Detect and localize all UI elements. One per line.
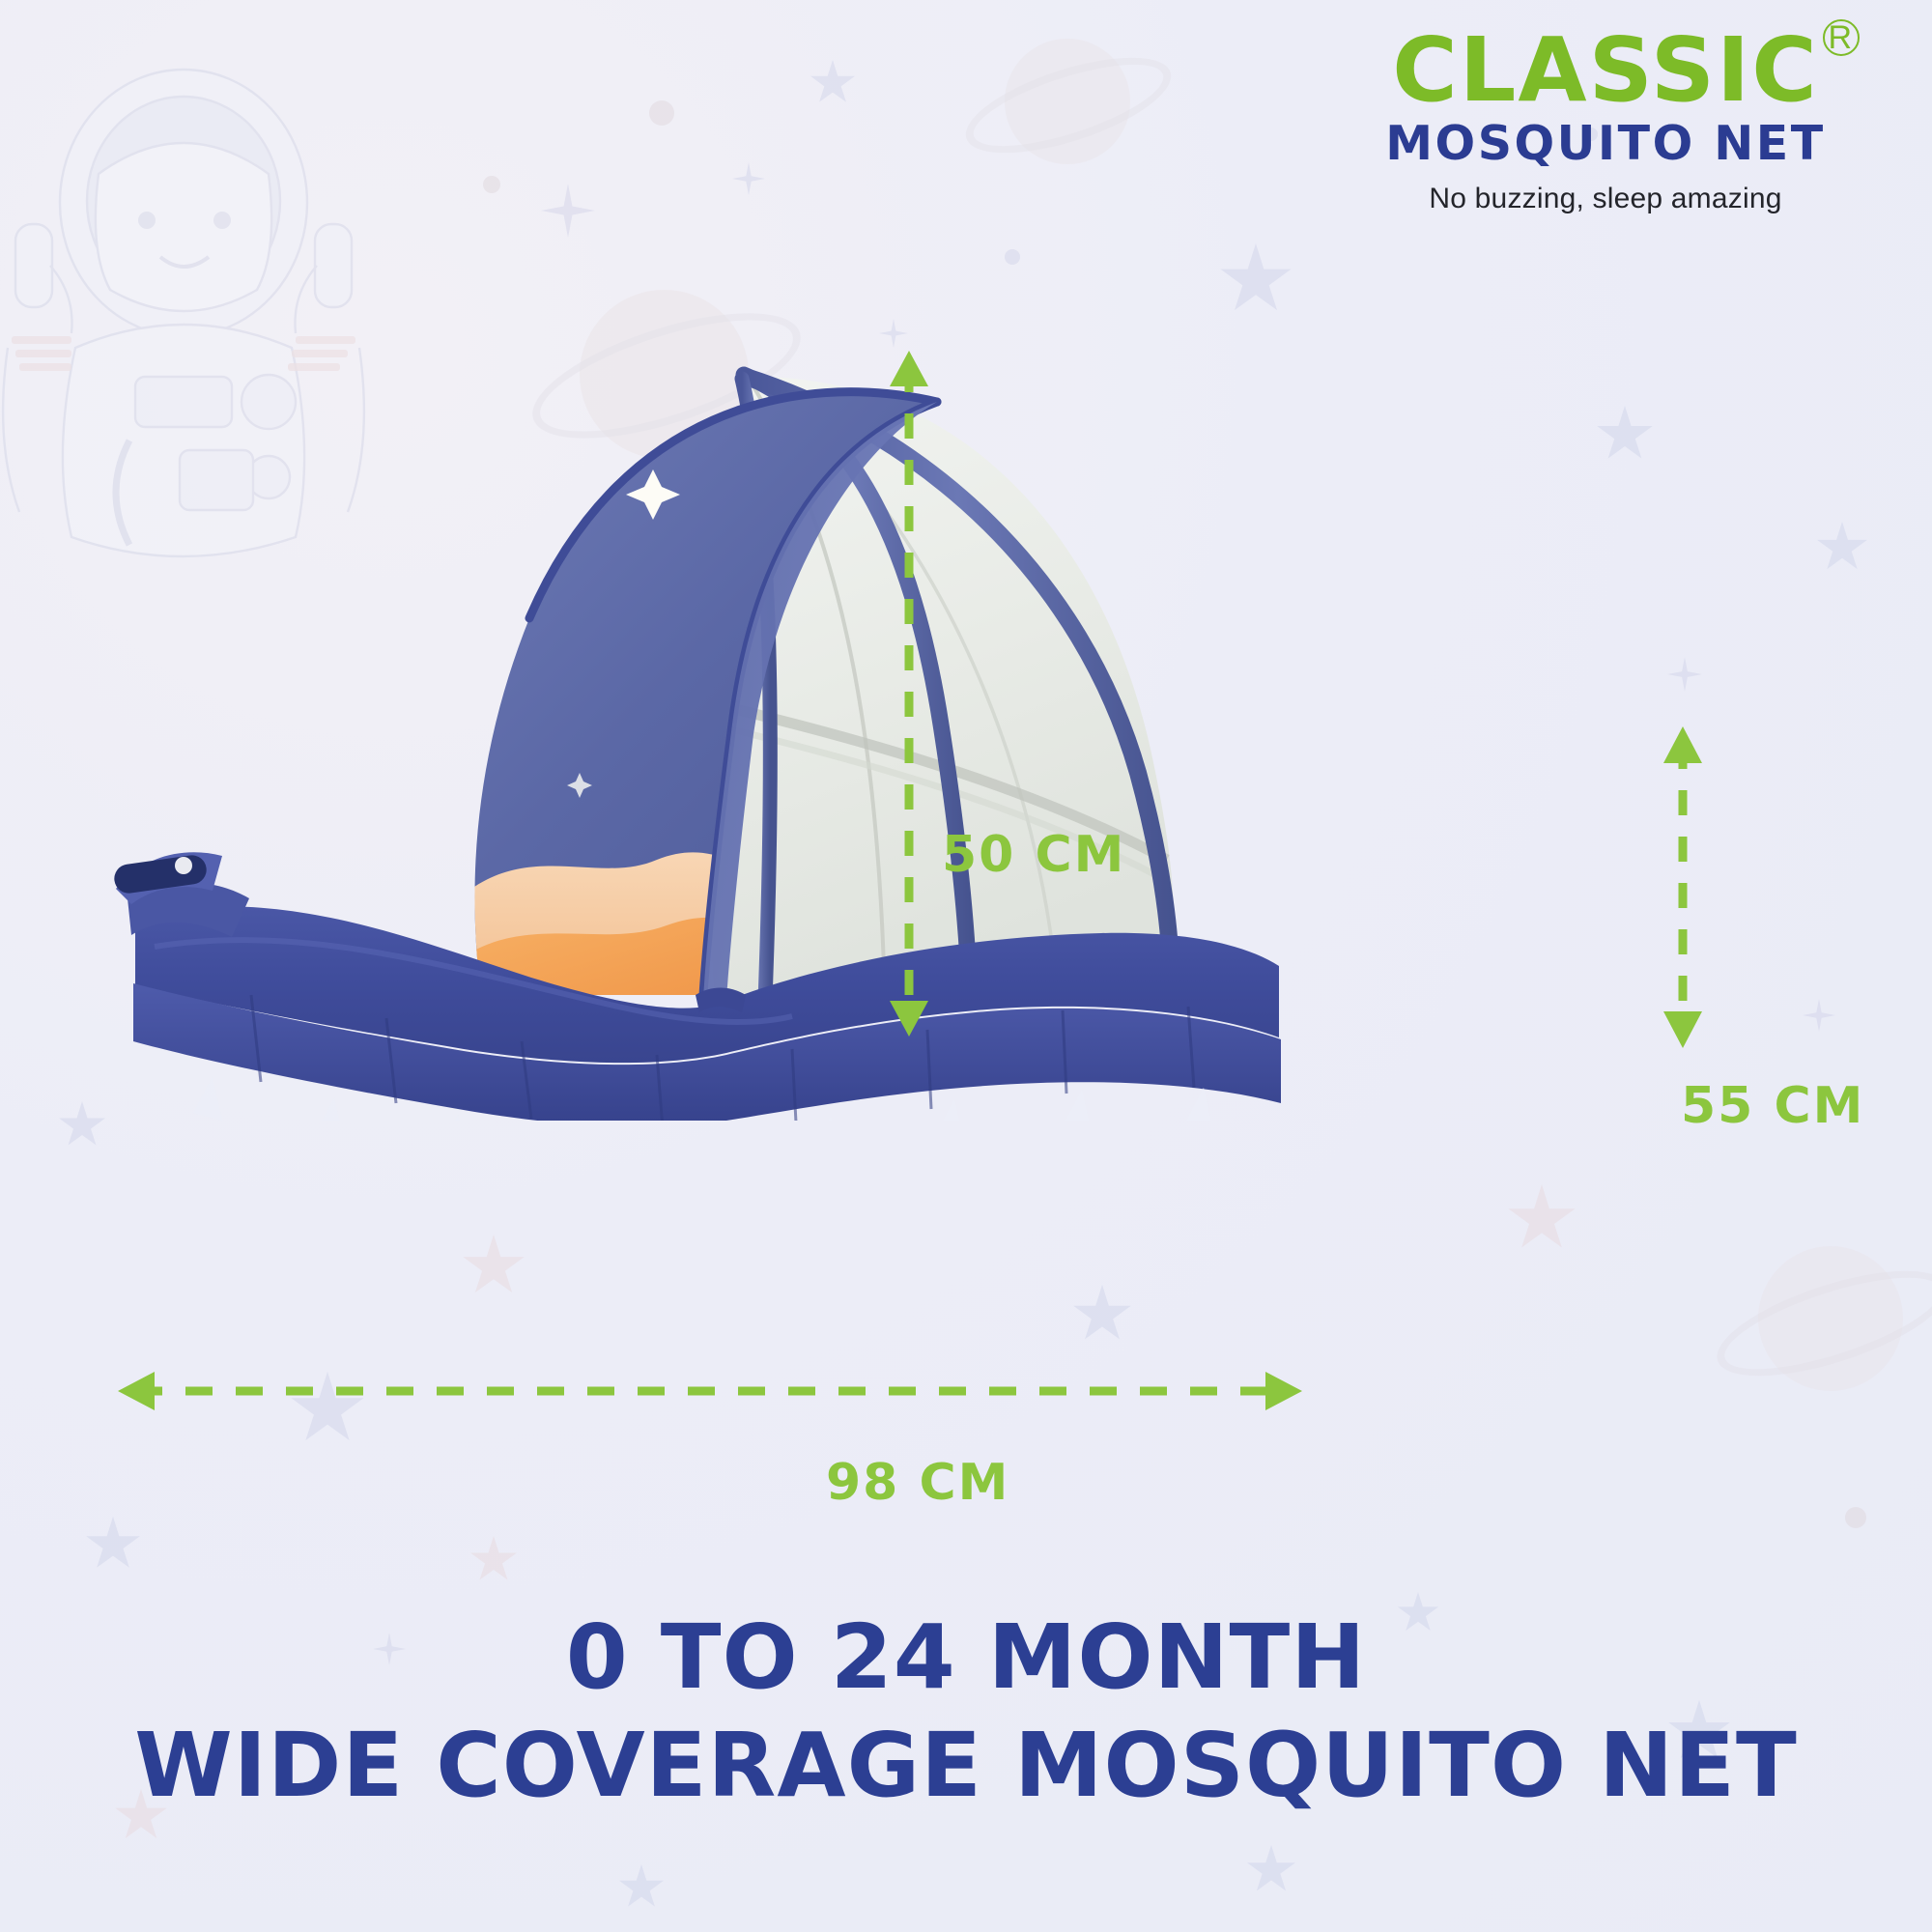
star-watermark: [469, 1536, 518, 1584]
headline-line-1: 0 TO 24 MONTH: [0, 1604, 1932, 1712]
star-watermark: [1219, 243, 1293, 317]
dimension-label-55cm: 55 CM: [1681, 1077, 1864, 1135]
brand-name-text: CLASSIC: [1392, 18, 1818, 122]
product-marketing-image: CLASSIC R MOSQUITO NET No buzzing, sleep…: [0, 0, 1932, 1932]
star-watermark: [462, 1235, 526, 1298]
star-watermark: [1816, 522, 1868, 574]
sparkle-watermark: [1803, 999, 1835, 1032]
headline-block: 0 TO 24 MONTH WIDE COVERAGE MOSQUITO NET: [0, 1604, 1932, 1820]
saturn-ring-watermark: [955, 39, 1181, 173]
rocket-graphic: [209, 628, 328, 893]
dimension-label-50cm: 50 CM: [942, 826, 1125, 884]
headline-line-2: WIDE COVERAGE MOSQUITO NET: [0, 1712, 1932, 1820]
star-watermark: [290, 1372, 365, 1447]
dot-watermark: [1845, 1507, 1866, 1528]
dot-watermark: [1005, 249, 1020, 265]
product-illustration: [77, 319, 1333, 1121]
saturn-ring-watermark: [1706, 1249, 1932, 1397]
brand-name: CLASSIC R: [1392, 27, 1818, 114]
brand-category: MOSQUITO NET: [1335, 120, 1876, 167]
registered-trademark-icon: R: [1823, 19, 1860, 56]
sparkle-watermark: [732, 162, 765, 195]
sparkle-watermark: [1667, 657, 1702, 692]
dot-watermark: [649, 100, 674, 126]
star-watermark: [1507, 1184, 1577, 1254]
dot-watermark: [483, 176, 500, 193]
star-watermark: [810, 60, 856, 106]
dimension-label-98cm: 98 CM: [826, 1454, 1009, 1512]
dimension-line-55cm: [1633, 726, 1734, 1048]
sparkle-watermark: [541, 184, 595, 238]
planet-watermark: [1005, 39, 1130, 164]
star-watermark: [1596, 406, 1654, 464]
star-watermark: [1246, 1845, 1296, 1895]
brand-logo: CLASSIC R MOSQUITO NET No buzzing, sleep…: [1335, 27, 1876, 215]
brand-tagline: No buzzing, sleep amazing: [1335, 183, 1876, 215]
star-watermark: [85, 1517, 141, 1573]
planet-watermark: [1758, 1246, 1903, 1391]
dimension-line-98cm: [118, 1372, 1302, 1410]
star-watermark: [1072, 1285, 1132, 1345]
star-watermark: [618, 1864, 665, 1911]
